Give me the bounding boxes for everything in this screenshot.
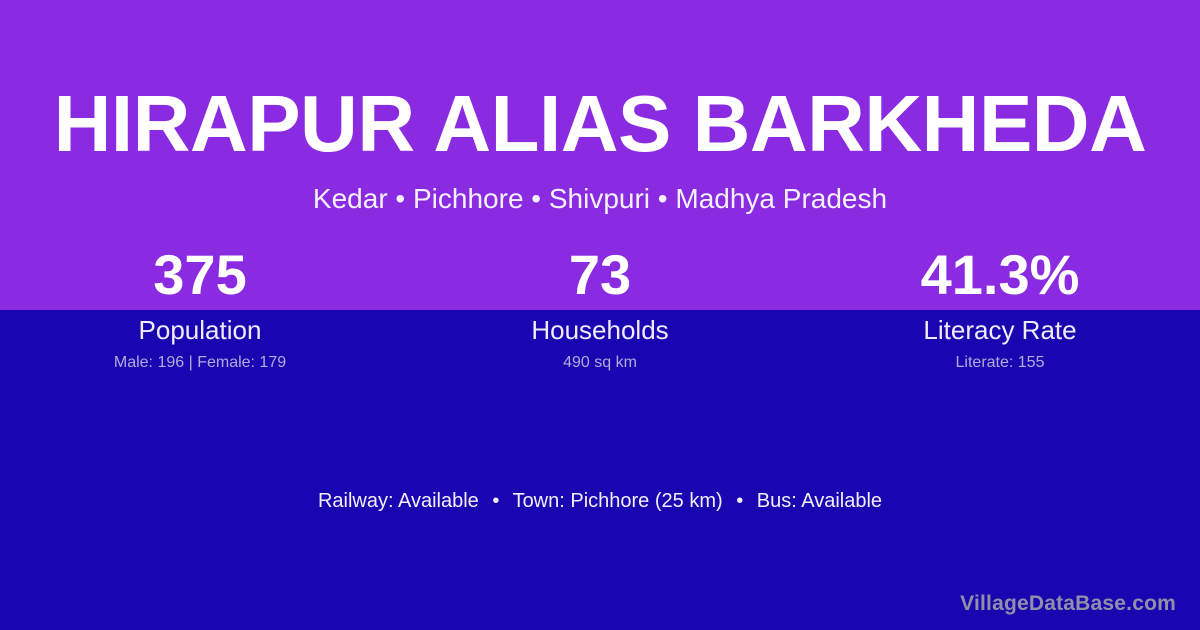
stat-sub-population: Male: 196 | Female: 179 [0,353,400,373]
stat-sub-households: 490 sq km [400,353,800,373]
facility-bus: Bus: Available [757,490,882,512]
facilities-line: Railway: Available • Town: Pichhore (25 … [0,488,1200,514]
stat-value-population: 375 [0,240,400,310]
village-info-card: HIRAPUR ALIAS BARKHEDA Kedar • Pichhore … [0,0,1200,630]
stat-block-population: 375 Population Male: 196 | Female: 179 [0,240,400,390]
facility-separator-1: • [484,490,507,512]
stat-block-households: 73 Households 490 sq km [400,240,800,390]
site-watermark: VillageDataBase.com [960,590,1176,617]
stat-label-population: Population [0,314,400,346]
breadcrumb: Kedar • Pichhore • Shivpuri • Madhya Pra… [0,182,1200,216]
page-title: HIRAPUR ALIAS BARKHEDA [0,76,1200,172]
stat-label-households: Households [400,314,800,346]
stat-label-literacy-rate: Literacy Rate [800,314,1200,346]
facility-railway: Railway: Available [318,490,479,512]
stat-value-literacy-rate: 41.3% [800,240,1200,310]
stat-block-literacy-rate: 41.3% Literacy Rate Literate: 155 [800,240,1200,390]
stat-sub-literacy-rate: Literate: 155 [800,353,1200,373]
facility-separator-2: • [728,490,751,512]
stat-value-households: 73 [400,240,800,310]
stats-row: 375 Population Male: 196 | Female: 179 7… [0,240,1200,390]
facility-town: Town: Pichhore (25 km) [513,490,723,512]
